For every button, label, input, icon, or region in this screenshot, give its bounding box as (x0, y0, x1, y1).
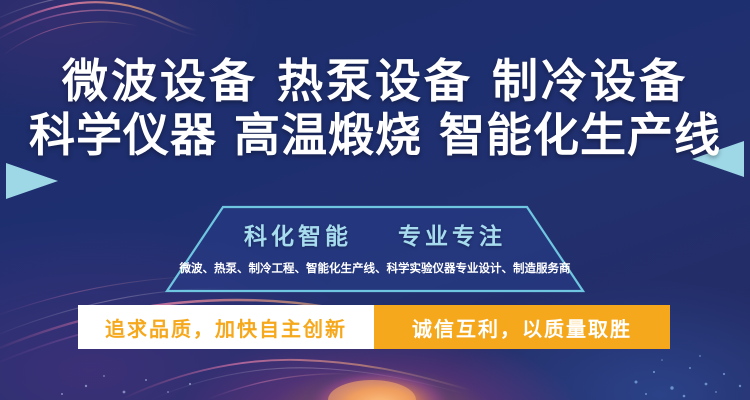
feature-main-right: 专业专注 (398, 224, 506, 250)
tag-bar-group: 追求品质，加快自主创新 诚信互利，以质量取胜 (78, 305, 670, 349)
feature-subtitle: 微波、热泵、制冷工程、智能化生产线、科学实验仪器专业设计、制造服务商 (165, 260, 585, 276)
headline-block: 微波设备 热泵设备 制冷设备 科学仪器 高温煅烧 智能化生产线 (0, 58, 750, 159)
feature-main-text: 科化智能 专业专注 (165, 217, 585, 251)
feature-trapezoid: 科化智能 专业专注 微波、热泵、制冷工程、智能化生产线、科学实验仪器专业设计、制… (165, 205, 585, 293)
triangle-right-icon-left (6, 163, 58, 199)
tag-bar-quality[interactable]: 追求品质，加快自主创新 (78, 305, 374, 349)
promo-banner: 微波设备 热泵设备 制冷设备 科学仪器 高温煅烧 智能化生产线 科化智能 专业专… (0, 0, 750, 400)
headline-line-1: 微波设备 热泵设备 制冷设备 (0, 58, 750, 105)
tag-bar-integrity[interactable]: 诚信互利，以质量取胜 (374, 305, 670, 349)
headline-line-2: 科学仪器 高温煅烧 智能化生产线 (0, 112, 750, 159)
feature-main-left: 科化智能 (244, 224, 352, 250)
